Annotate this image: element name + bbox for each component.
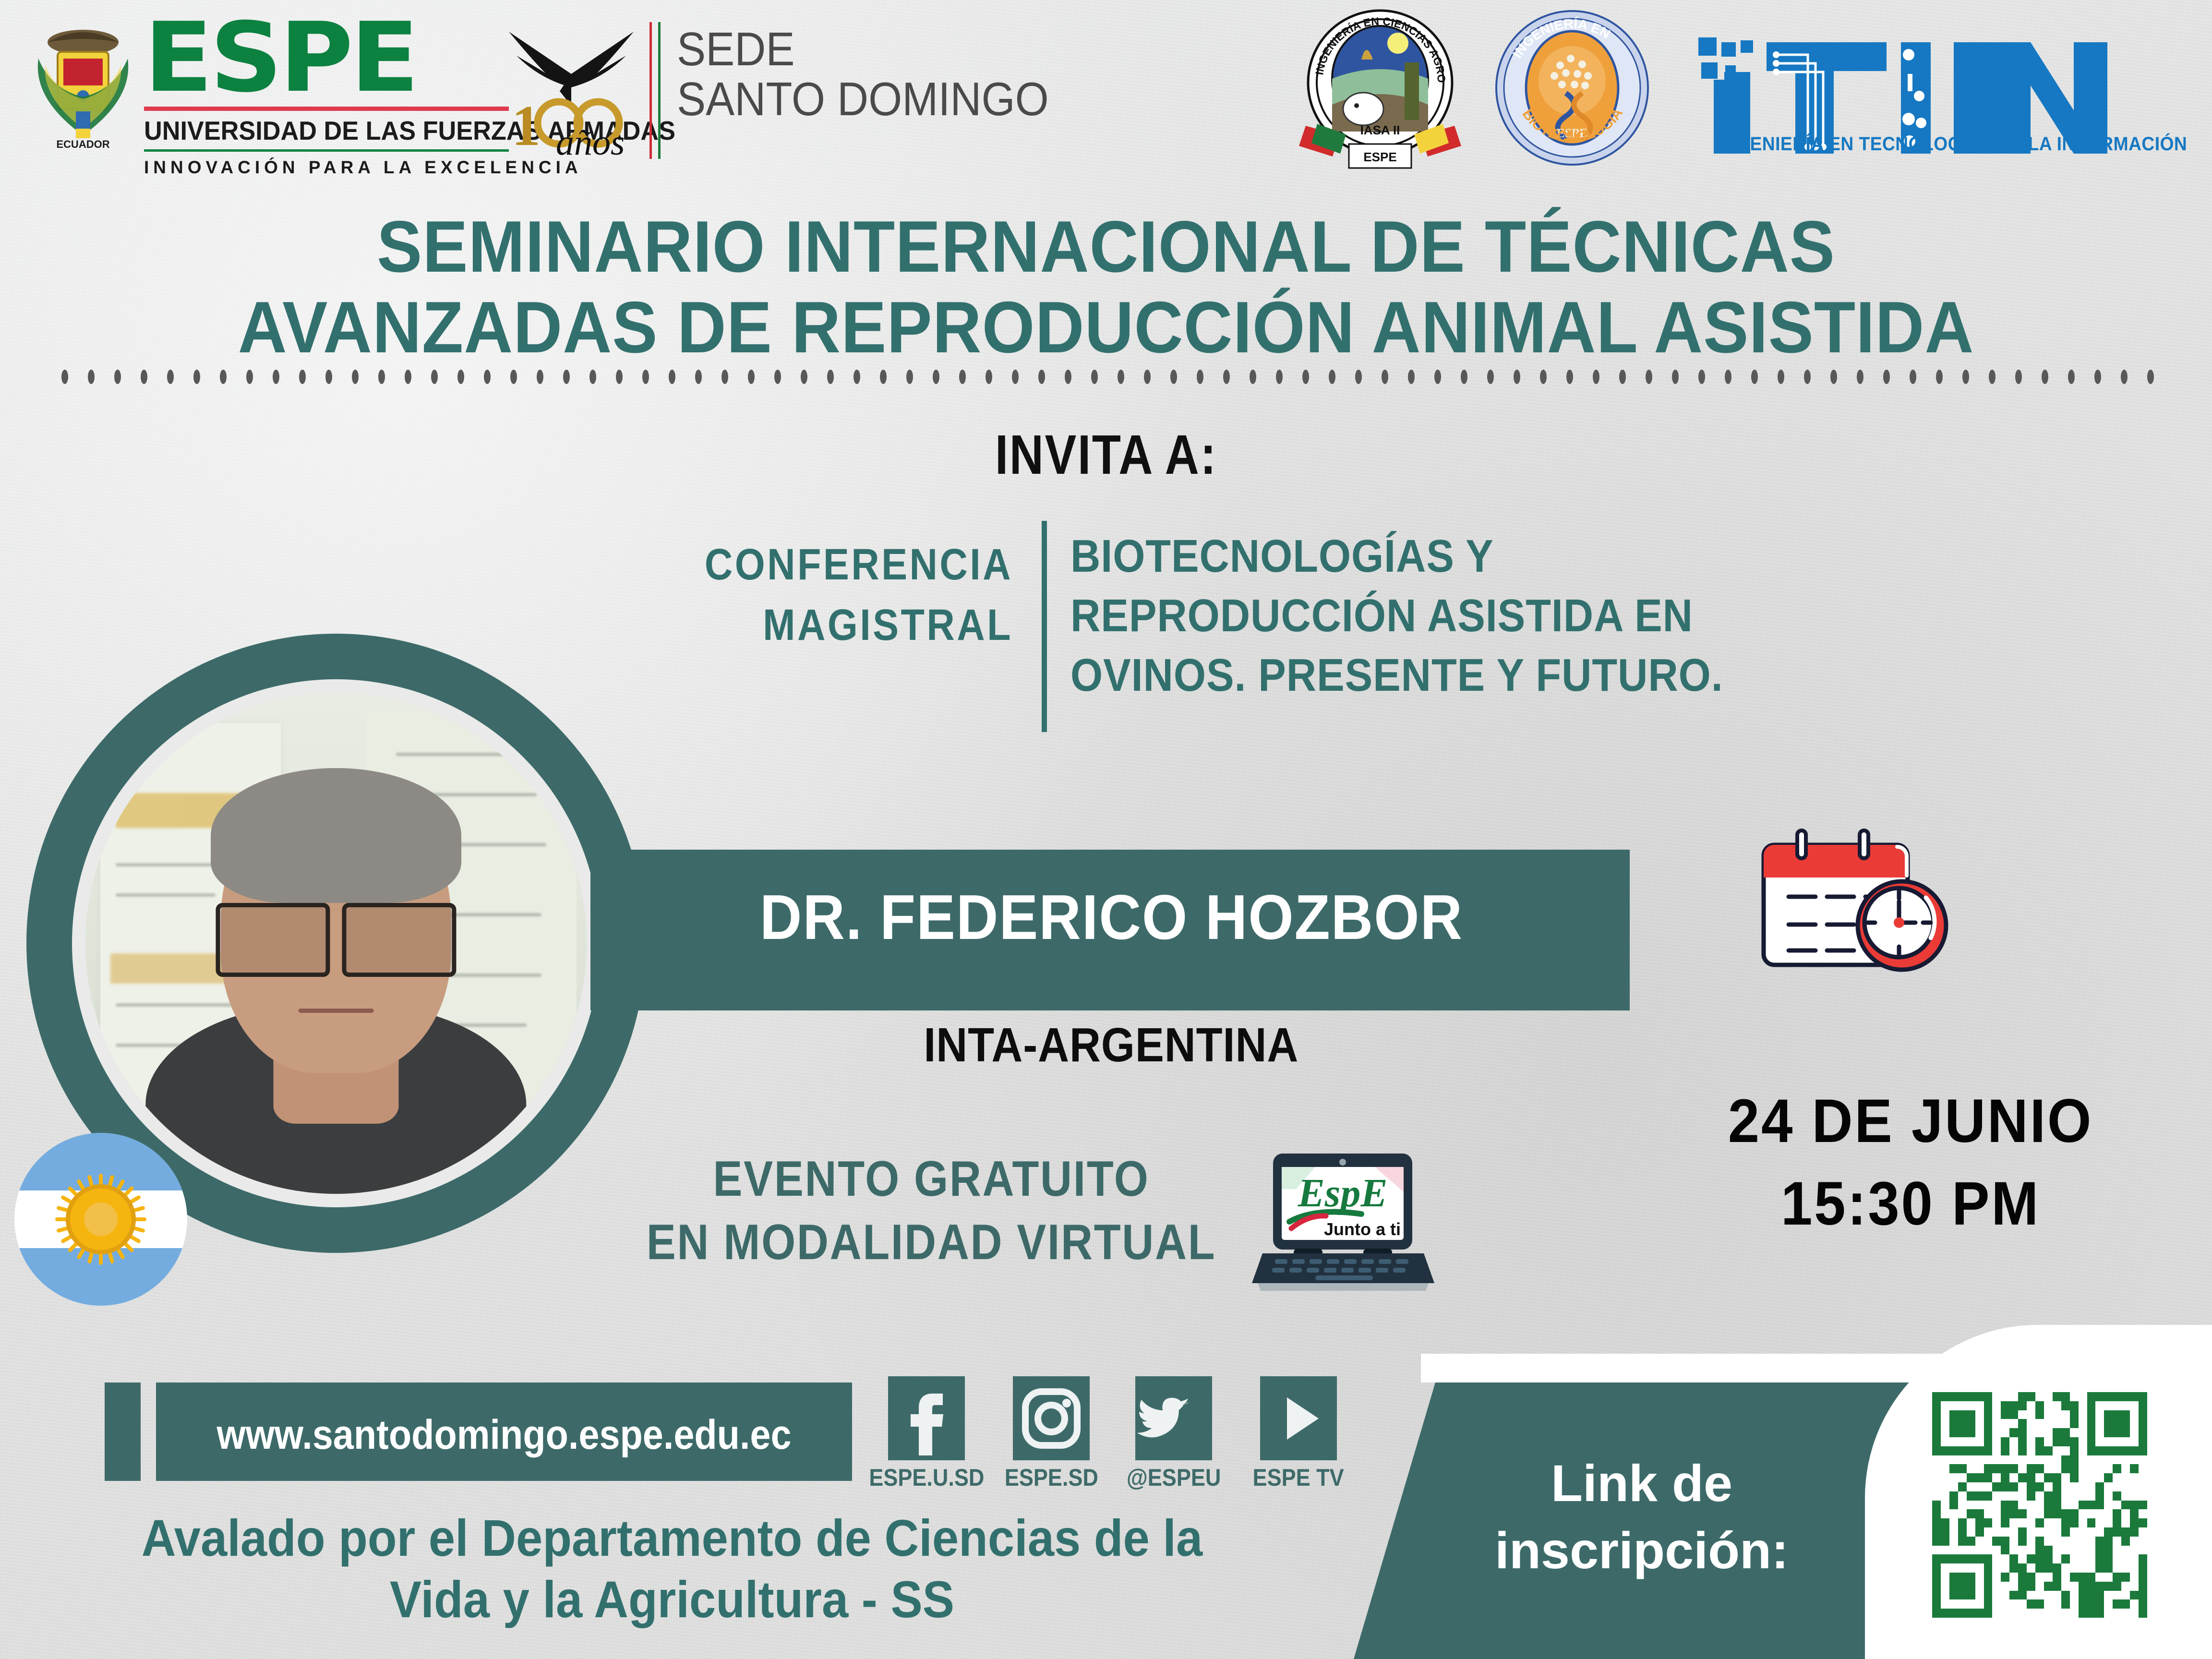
twitter-handle-wrap: @ESPEU [1106,1464,1241,1491]
endorsement-text: Avalado por el Departamento de Ciencias … [0,1507,1344,1630]
endorsement-line-1: Avalado por el Departamento de Ciencias … [54,1507,1290,1569]
social-facebook[interactable]: ESPE.U.SD [888,1376,965,1460]
biotecnologia-logo-icon: ESPE INGENIERÍA EN BIOTECNOLOGÍA [1493,9,1651,167]
espe-tagline: INNOVACIÓN PARA LA EXCELENCIA [144,157,528,178]
speaker-photo [85,693,587,1194]
social-instagram[interactable]: ESPE.SD [1013,1376,1090,1460]
facebook-handle-wrap: ESPE.U.SD [859,1464,994,1491]
iasa-ii-logo-icon: INGENIERÍA EN CIENCIAS AGROPECUARIAS IAS… [1291,6,1469,174]
conference-label-line-2: MAGISTRAL [666,595,1013,655]
laptop-slogan: Junto a ti [1324,1219,1401,1239]
laptop-espe-icon: EspE Junto a ti [1243,1150,1435,1303]
espe-wordmark: ESPE [144,12,547,104]
title-line-1: SEMINARIO INTERNACIONAL DE TÉCNICAS [77,206,2134,287]
endorsement-line-2: Vida y la Agricultura - SS [54,1569,1290,1630]
registration-line-1: Link de [1421,1450,1863,1517]
iasa-ribbon: ESPE [1363,150,1396,164]
event-datetime: 24 DE JUNIO 15:30 PM [1647,1080,2175,1245]
title-line-2: AVANZADAS DE REPRODUCCIÓN ANIMAL ASISTID… [77,287,2134,368]
website-wrap[interactable]: www.santodomingo.espe.edu.ec [156,1411,852,1459]
event-time: 15:30 PM [1668,1163,2153,1245]
calendar-clock-icon [1757,826,1987,998]
social-youtube[interactable]: ESPE TV [1260,1376,1337,1460]
youtube-handle-wrap: ESPE TV [1231,1464,1366,1491]
facebook-icon[interactable] [888,1376,965,1460]
speaker-name-wrap: DR. FEDERICO HOZBOR [624,881,1599,953]
event-date: 24 DE JUNIO [1668,1080,2153,1163]
invite-heading-text: INVITA A: [995,422,1217,487]
header-logo-bar: ECUADOR ESPE UNIVERSIDAD DE LAS FUERZAS … [0,0,2212,182]
speaker-affiliation-wrap: INTA-ARGENTINA [624,1018,1599,1073]
social-twitter[interactable]: @ESPEU [1135,1376,1212,1460]
ecuador-crest-icon: ECUADOR [28,17,138,156]
event-modality: EVENTO GRATUITO EN MODALIDAD VIRTUAL [595,1147,1267,1274]
argentina-flag-icon [14,1133,187,1306]
laptop-espe-text: EspE [1298,1171,1388,1215]
speaker-affiliation: INTA-ARGENTINA [924,1018,1299,1073]
dotted-divider [61,368,2154,386]
conference-label: CONFERENCIA MAGISTRAL [619,534,1013,655]
photo-inner-gap [72,679,600,1207]
crest-caption: ECUADOR [56,138,109,150]
twitter-handle: @ESPEU [1127,1464,1221,1491]
topic-line-2: REPRODUCCIÓN ASISTIDA EN [1070,586,1736,646]
poster-title: SEMINARIO INTERNACIONAL DE TÉCNICAS AVAN… [0,206,2212,368]
campus-line-1: SEDE [677,24,1049,74]
modality-line-1: EVENTO GRATUITO [636,1147,1227,1211]
registration-line-2: inscripción: [1421,1517,1863,1584]
conference-topic: BIOTECNOLOGÍAS Y REPRODUCCIÓN ASISTIDA E… [1070,527,1810,705]
facebook-handle: ESPE.U.SD [869,1464,984,1491]
sede-divider-rules [649,22,666,159]
iasa-code: IASA II [1360,123,1400,137]
twitter-icon[interactable] [1135,1376,1212,1460]
instagram-handle-wrap: ESPE.SD [984,1464,1118,1491]
website-url[interactable]: www.santodomingo.espe.edu.ec [216,1411,791,1459]
green-rule [144,149,509,152]
topic-line-3: OVINOS. PRESENTE Y FUTURO. [1070,646,1736,705]
invite-heading: INVITA A: [0,422,2212,487]
vertical-divider [1042,521,1047,732]
espe-wordmark-block: ESPE UNIVERSIDAD DE LAS FUERZAS ARMADAS … [144,12,528,156]
campus-name: SEDE SANTO DOMINGO [677,24,1049,124]
svg-text:años: años [556,122,625,160]
conference-block: CONFERENCIA MAGISTRAL BIOTECNOLOGÍAS Y R… [619,521,1819,742]
registration-qr-code[interactable] [1932,1392,2147,1618]
topic-line-1: BIOTECNOLOGÍAS Y [1070,527,1736,586]
conference-label-line-1: CONFERENCIA [666,534,1013,595]
itin-subtitle: INGENIERÍA EN TECNOLOGÍAS DE LA INFORMAC… [1718,133,2187,155]
campus-line-2: SANTO DOMINGO [677,74,1049,124]
instagram-handle: ESPE.SD [1004,1464,1098,1491]
registration-label: Link de inscripción: [1421,1450,1863,1584]
event-poster: ECUADOR ESPE UNIVERSIDAD DE LAS FUERZAS … [0,0,2212,1659]
modality-line-2: EN MODALIDAD VIRTUAL [636,1211,1227,1274]
youtube-handle: ESPE TV [1253,1464,1344,1491]
url-accent-tab [105,1382,141,1481]
speaker-name: DR. FEDERICO HOZBOR [759,881,1463,953]
youtube-icon[interactable] [1260,1376,1337,1460]
espe-subtitle: UNIVERSIDAD DE LAS FUERZAS ARMADAS [144,115,509,146]
instagram-icon[interactable] [1013,1376,1090,1460]
anniversary-100-anos-icon: 1 años [499,16,643,160]
